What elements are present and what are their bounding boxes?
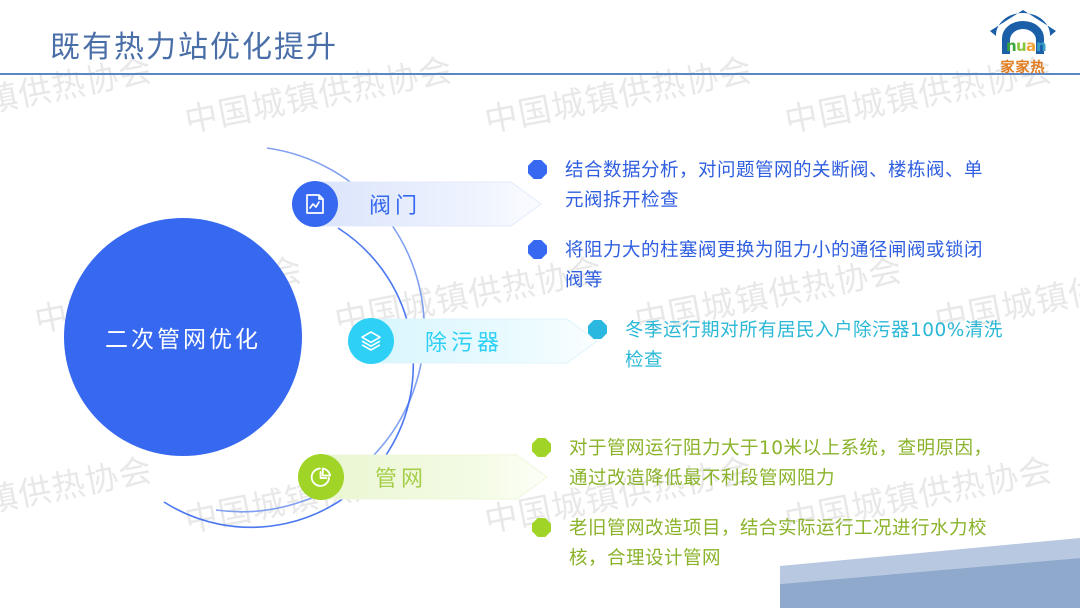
pipe-banner-shape — [321, 453, 549, 501]
title-divider — [0, 73, 1080, 75]
branch-valve[interactable]: 阀门 — [292, 180, 543, 228]
bullet-marker — [532, 518, 551, 537]
list-item: 冬季运行期对所有居民入户除污器100%清洗检查 — [588, 316, 1008, 376]
bullet-text: 老旧管网改造项目，结合实际运行工况进行水力校核，合理设计管网 — [569, 514, 1002, 574]
filter-banner-label: 除污器 — [425, 325, 503, 357]
logo-wordmark-cn: 家家热 — [980, 57, 1066, 77]
list-item: 将阻力大的柱塞阀更换为阻力小的通径闸阀或锁闭阀等 — [528, 236, 998, 296]
bullet-text: 结合数据分析，对问题管网的关断阀、楼栋阀、单元阀拆开检查 — [565, 156, 998, 216]
pipe-banner: 管网 — [321, 453, 549, 501]
valve-banner: 阀门 — [315, 180, 543, 228]
valve-banner-label: 阀门 — [369, 188, 421, 220]
layers-stack-icon — [359, 329, 383, 353]
list-item: 对于管网运行阻力大于10米以上系统，查明原因，通过改造降低最不利段管网阻力 — [532, 434, 1002, 494]
hub-label: 二次管网优化 — [105, 320, 261, 354]
pipe-banner-label: 管网 — [375, 461, 427, 493]
list-item: 结合数据分析，对问题管网的关断阀、楼栋阀、单元阀拆开检查 — [528, 156, 998, 216]
filter-node-icon[interactable] — [348, 318, 394, 364]
bullet-marker — [532, 438, 551, 457]
svg-text:a: a — [1026, 37, 1036, 55]
slide-canvas: 中国城镇供热协会中国城镇供热协会中国城镇供热协会中国城镇供热协会中国城镇供热协会… — [0, 0, 1080, 608]
branch-filter[interactable]: 除污器 — [348, 317, 599, 365]
document-chart-icon — [303, 192, 327, 216]
pipe-bullet-list: 对于管网运行阻力大于10米以上系统，查明原因，通过改造降低最不利段管网阻力 老旧… — [532, 434, 1002, 574]
pie-chart-icon — [308, 464, 334, 490]
bullet-marker — [588, 320, 607, 339]
page-title: 既有热力站优化提升 — [50, 22, 338, 66]
valve-bullet-list: 结合数据分析，对问题管网的关断阀、楼栋阀、单元阀拆开检查 将阻力大的柱塞阀更换为… — [528, 156, 998, 296]
bullet-marker — [528, 240, 547, 259]
pipe-node-icon[interactable] — [298, 454, 344, 500]
list-item: 老旧管网改造项目，结合实际运行工况进行水力校核，合理设计管网 — [532, 514, 1002, 574]
bullet-text: 冬季运行期对所有居民入户除污器100%清洗检查 — [625, 316, 1008, 376]
filter-banner: 除污器 — [371, 317, 599, 365]
valve-banner-shape — [315, 180, 543, 228]
bullet-text: 对于管网运行阻力大于10米以上系统，查明原因，通过改造降低最不利段管网阻力 — [569, 434, 1002, 494]
svg-text:n: n — [1036, 37, 1047, 55]
watermark-text: 中国城镇供热协会 — [480, 43, 756, 142]
valve-node-icon[interactable] — [292, 181, 338, 227]
bullet-text: 将阻力大的柱塞阀更换为阻力小的通径闸阀或锁闭阀等 — [565, 236, 998, 296]
branch-pipe[interactable]: 管网 — [298, 453, 549, 501]
filter-bullet-list: 冬季运行期对所有居民入户除污器100%清洗检查 — [588, 316, 1008, 376]
hub-circle: 二次管网优化 — [64, 218, 302, 456]
logo: n u a n 家家热 — [980, 4, 1066, 80]
bullet-marker — [528, 160, 547, 179]
